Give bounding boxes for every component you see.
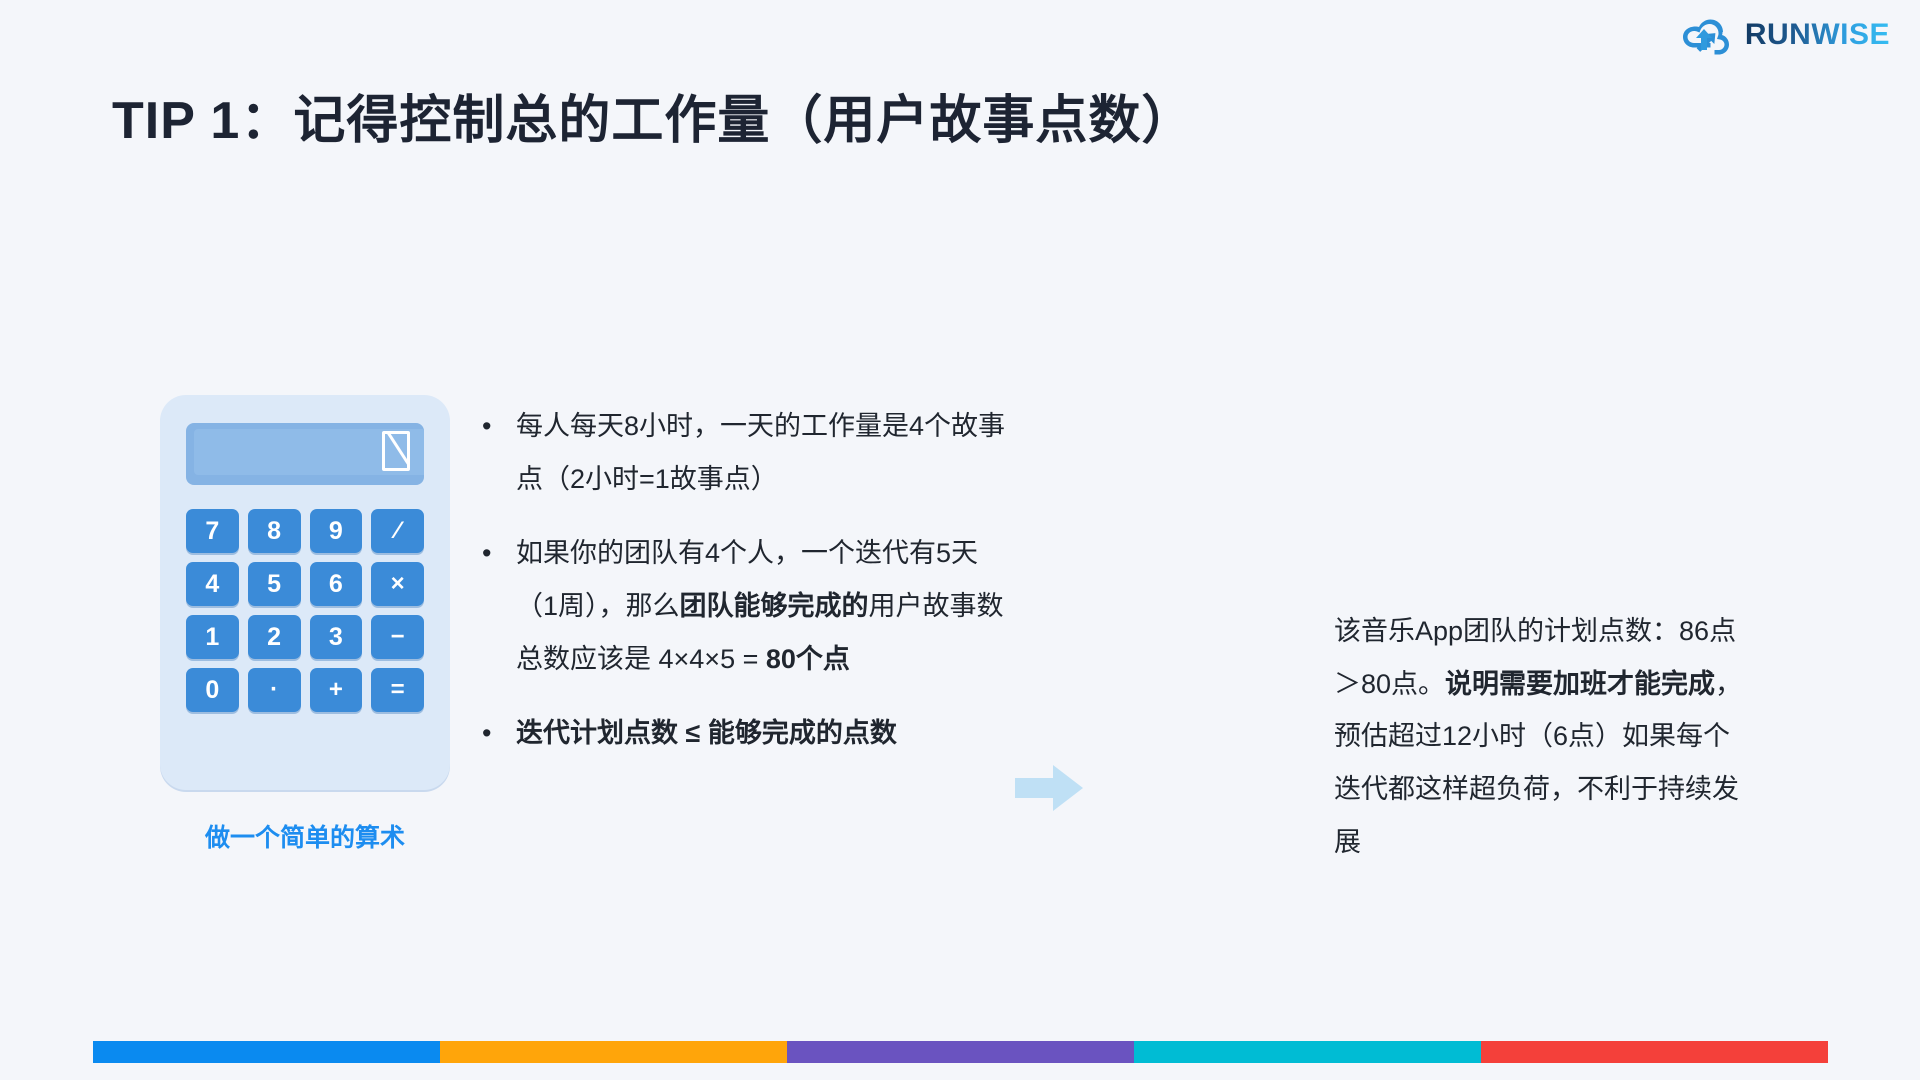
calculator-block: 7 8 9 ∕ 4 5 6 × 1 2 3 − 0 · + = 做一个简单的算术 [160, 395, 460, 854]
calc-key-divide[interactable]: ∕ [371, 509, 424, 553]
list-item: • 迭代计划点数 ≤ 能够完成的点数 [482, 707, 1012, 760]
bullet-list: • 每人每天8小时，一天的工作量是4个故事点（2小时=1故事点） • 如果你的团… [482, 400, 1012, 782]
calc-key-multiply[interactable]: × [371, 562, 424, 606]
bullet-marker: • [482, 527, 516, 685]
calculator-keypad: 7 8 9 ∕ 4 5 6 × 1 2 3 − 0 · + = [186, 509, 424, 712]
calculator-caption: 做一个简单的算术 [160, 818, 450, 854]
calc-key[interactable]: 7 [186, 509, 239, 553]
bullet-marker: • [482, 707, 516, 760]
page-title: TIP 1：记得控制总的工作量（用户故事点数） [112, 78, 1194, 153]
calc-key[interactable]: 4 [186, 562, 239, 606]
brand-name: RUNWISE [1745, 20, 1890, 50]
brand-logo: RUNWISE [1681, 14, 1890, 56]
bottom-color-bar [93, 1041, 1828, 1063]
calc-key[interactable]: 8 [248, 509, 301, 553]
color-bar-segment-purple [787, 1041, 1134, 1063]
color-bar-segment-orange [440, 1041, 787, 1063]
calc-key-plus[interactable]: + [310, 668, 363, 712]
bullet-segment-bold: 80个点 [766, 644, 850, 674]
calc-key[interactable]: 1 [186, 615, 239, 659]
calc-key[interactable]: 6 [310, 562, 363, 606]
calculator-display [186, 423, 424, 485]
calc-key-decimal[interactable]: · [248, 668, 301, 712]
bullet-segment: 每人每天8小时，一天的工作量是4个故事点（2小时=1故事点） [516, 411, 1005, 494]
list-item: • 每人每天8小时，一天的工作量是4个故事点（2小时=1故事点） [482, 400, 1012, 505]
calc-key[interactable]: 2 [248, 615, 301, 659]
list-item: • 如果你的团队有4个人，一个迭代有5天（1周），那么团队能够完成的用户故事数总… [482, 527, 1012, 685]
color-bar-segment-cyan [1134, 1041, 1481, 1063]
bullet-text: 如果你的团队有4个人，一个迭代有5天（1周），那么团队能够完成的用户故事数总数应… [516, 527, 1012, 685]
calc-key[interactable]: 9 [310, 509, 363, 553]
color-bar-segment-red [1481, 1041, 1828, 1063]
bullet-text: 每人每天8小时，一天的工作量是4个故事点（2小时=1故事点） [516, 400, 1012, 505]
right-arrow-icon [1015, 765, 1083, 811]
right-note-segment-bold: 说明需要加班才能完成 [1445, 669, 1715, 699]
calculator-illustration: 7 8 9 ∕ 4 5 6 × 1 2 3 − 0 · + = [160, 395, 450, 790]
runwise-cloud-arrow-icon [1681, 14, 1735, 56]
right-note-paragraph: 该音乐App团队的计划点数：86点＞80点。说明需要加班才能完成，预估超过12小… [1334, 605, 1754, 868]
missing-glyph-box-icon [382, 431, 410, 471]
calc-key-equals[interactable]: = [371, 668, 424, 712]
color-bar-segment-blue [93, 1041, 440, 1063]
bullet-segment-bold: 团队能够完成的 [680, 591, 869, 621]
bullet-text: 迭代计划点数 ≤ 能够完成的点数 [516, 707, 1012, 760]
bullet-marker: • [482, 400, 516, 505]
calc-key[interactable]: 3 [310, 615, 363, 659]
calc-key[interactable]: 5 [248, 562, 301, 606]
calc-key-minus[interactable]: − [371, 615, 424, 659]
calc-key[interactable]: 0 [186, 668, 239, 712]
bullet-segment-bold: 迭代计划点数 ≤ 能够完成的点数 [516, 718, 897, 748]
